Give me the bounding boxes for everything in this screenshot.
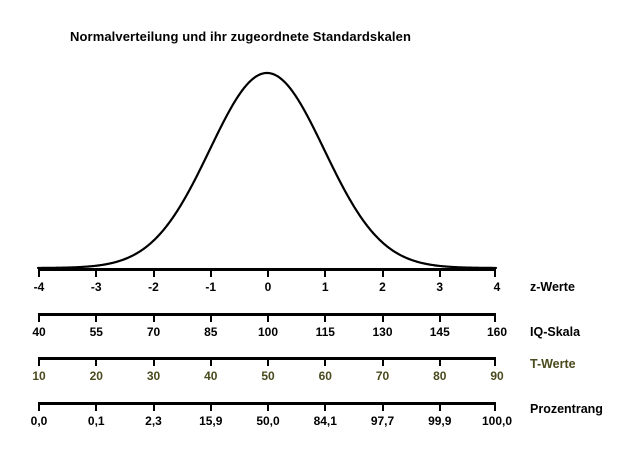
- axis-tick-label: 97,7: [371, 414, 394, 428]
- scale-row-t-werte: 102030405060708090 T-Werte: [0, 357, 629, 397]
- axis-tick-label: 3: [436, 280, 443, 294]
- axis-tick-label: 40: [204, 369, 217, 383]
- scale-label-prozentrang: Prozentrang: [530, 402, 603, 416]
- axis-tick-label: 30: [147, 369, 160, 383]
- axis-z-werte: -4-3-2-101234: [38, 268, 496, 277]
- axis-tick-label: 70: [376, 369, 389, 383]
- axis-tick-label: 60: [319, 369, 332, 383]
- scale-label-z-werte: z-Werte: [530, 280, 575, 294]
- axis-tick-label: 0,1: [88, 414, 105, 428]
- axis-tick: [382, 402, 384, 411]
- axis-tick: [38, 402, 40, 411]
- axis-tick: [494, 313, 496, 322]
- scale-label-iq-skala: IQ-Skala: [530, 325, 580, 339]
- axis-tick: [439, 313, 441, 322]
- axis-tick: [267, 268, 269, 277]
- axis-tick: [153, 357, 155, 366]
- axis-tick: [267, 402, 269, 411]
- axis-tick: [267, 357, 269, 366]
- axis-tick-label: 115: [316, 325, 335, 339]
- axis-tick: [494, 402, 496, 411]
- axis-tick: [95, 268, 97, 277]
- axis-tick: [153, 313, 155, 322]
- axis-tick-label: 4: [494, 280, 501, 294]
- axis-tick-label: 90: [490, 369, 503, 383]
- axis-tick: [494, 357, 496, 366]
- normal-distribution-figure: Normalverteilung und ihr zugeordnete Sta…: [0, 0, 629, 474]
- axis-tick-label: -4: [34, 280, 45, 294]
- axis-prozentrang: 0,00,12,315,950,084,197,799,9100,0: [38, 402, 496, 411]
- axis-tick: [38, 357, 40, 366]
- axis-tick-label: -2: [148, 280, 159, 294]
- axis-tick-label: 70: [147, 325, 160, 339]
- axis-tick: [210, 402, 212, 411]
- axis-tick: [210, 268, 212, 277]
- axis-tick: [494, 268, 496, 277]
- scale-label-t-werte: T-Werte: [530, 357, 576, 371]
- axis-tick-label: 80: [433, 369, 446, 383]
- axis-tick: [439, 268, 441, 277]
- axis-tick-label: 0,0: [31, 414, 48, 428]
- axis-tick: [95, 402, 97, 411]
- axis-tick: [382, 313, 384, 322]
- axis-tick: [267, 313, 269, 322]
- axis-tick-label: 2: [379, 280, 386, 294]
- axis-tick-label: 40: [32, 325, 45, 339]
- axis-tick-label: 10: [32, 369, 45, 383]
- axis-tick: [439, 402, 441, 411]
- distribution-curve-area: [0, 55, 629, 270]
- axis-tick-label: 15,9: [199, 414, 222, 428]
- axis-t-werte: 102030405060708090: [38, 357, 496, 366]
- axis-tick-label: 100: [258, 325, 278, 339]
- scale-row-iq-skala: 40557085100115130145160 IQ-Skala: [0, 313, 629, 353]
- axis-tick-label: 160: [487, 325, 507, 339]
- axis-tick-label: 20: [90, 369, 103, 383]
- scale-row-z-werte: -4-3-2-101234 z-Werte: [0, 268, 629, 308]
- axis-tick: [210, 313, 212, 322]
- axis-tick: [439, 357, 441, 366]
- axis-tick-label: 55: [90, 325, 103, 339]
- axis-tick-label: 99,9: [428, 414, 451, 428]
- axis-tick: [95, 313, 97, 322]
- chart-title: Normalverteilung und ihr zugeordnete Sta…: [70, 29, 411, 44]
- axis-tick-label: -3: [91, 280, 102, 294]
- axis-tick: [153, 402, 155, 411]
- axis-tick: [382, 268, 384, 277]
- axis-tick: [38, 268, 40, 277]
- axis-tick: [324, 357, 326, 366]
- axis-tick: [95, 357, 97, 366]
- axis-tick-label: 0: [265, 280, 272, 294]
- axis-tick-label: -1: [205, 280, 216, 294]
- axis-tick: [153, 268, 155, 277]
- axis-tick: [38, 313, 40, 322]
- axis-tick: [210, 357, 212, 366]
- axis-tick: [324, 268, 326, 277]
- normal-curve-path: [38, 73, 496, 268]
- axis-tick-label: 84,1: [314, 414, 337, 428]
- axis-tick-label: 2,3: [145, 414, 162, 428]
- normal-curve-svg: [0, 55, 629, 270]
- axis-tick-label: 130: [372, 325, 392, 339]
- axis-iq-skala: 40557085100115130145160: [38, 313, 496, 322]
- axis-tick-label: 145: [430, 325, 450, 339]
- axis-tick-label: 50: [261, 369, 274, 383]
- axis-tick: [324, 402, 326, 411]
- axis-tick-label: 50,0: [256, 414, 279, 428]
- axis-tick-label: 100,0: [482, 414, 512, 428]
- axis-tick-label: 1: [322, 280, 329, 294]
- axis-tick: [324, 313, 326, 322]
- axis-tick: [382, 357, 384, 366]
- scale-row-prozentrang: 0,00,12,315,950,084,197,799,9100,0 Proze…: [0, 402, 629, 442]
- axis-tick-label: 85: [204, 325, 217, 339]
